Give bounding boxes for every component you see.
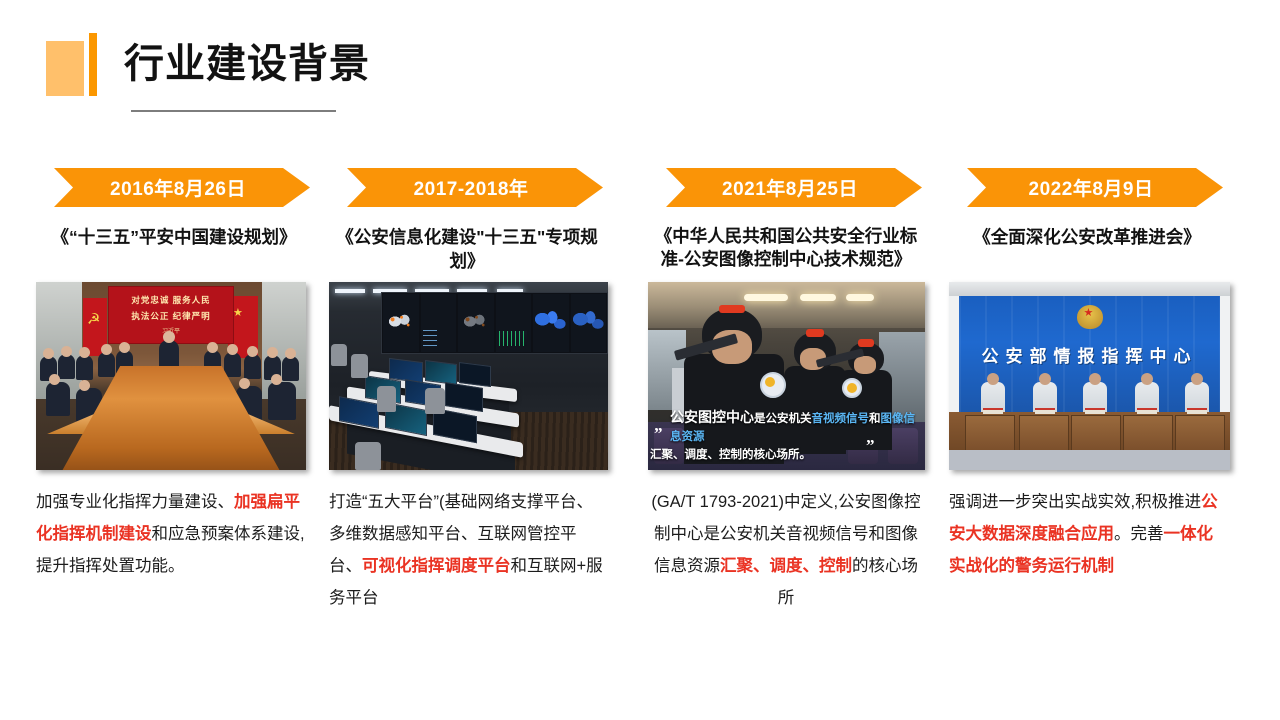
date-banner-3: 2021年8月25日 xyxy=(648,168,922,207)
header-accent-block-orange xyxy=(89,33,97,96)
train-ceiling xyxy=(648,282,925,328)
video-wall-screen xyxy=(496,294,532,352)
body-span-4a: 强调进一步突出实战实效,积极推进 xyxy=(949,493,1201,511)
date-banner-4: 2022年8月9日 xyxy=(949,168,1223,207)
body-text-2: 打造“五大平台”(基础网络支撑平台、多维数据感知平台、互联网管控平台、可视化指挥… xyxy=(329,486,605,614)
slide-root: 行业建设背景 2016年8月26日 《“十三五”平安中国建设规划》 对党忠诚 服… xyxy=(0,0,1280,720)
photo-press-conference: 公安部情报指挥中心 xyxy=(949,282,1230,470)
press-room-ceiling xyxy=(949,282,1230,296)
name-card xyxy=(1035,408,1055,414)
timeline-column-1: 2016年8月26日 《“十三五”平安中国建设规划》 对党忠诚 服务人民 执法公… xyxy=(36,168,312,249)
body-text-3: (GA/T 1793-2021)中定义,公安图像控制中心是公安机关音视频信号和图… xyxy=(648,486,924,614)
console-monitor xyxy=(425,360,457,385)
police-badge xyxy=(760,372,786,398)
photo-control-center xyxy=(329,282,608,470)
chair xyxy=(355,442,381,470)
caption-part-1: 公安图控中心 xyxy=(670,409,754,425)
officer-face xyxy=(854,356,876,374)
date-banner-2: 2017-2018年 xyxy=(329,168,603,207)
date-banner-label-1: 2016年8月26日 xyxy=(100,174,246,201)
chair xyxy=(331,344,347,366)
press-room-floor xyxy=(949,450,1230,470)
video-wall-screen xyxy=(458,294,494,352)
body-span-2b: 可视化指挥调度平台 xyxy=(362,557,511,575)
chair xyxy=(425,388,445,414)
slide-header: 行业建设背景 xyxy=(0,0,1280,130)
chair xyxy=(351,354,368,378)
caption-part-2: 是公安机关 xyxy=(754,413,812,425)
caption-part-6: 汇聚、调度、控制的核心场所。 xyxy=(650,449,811,461)
video-wall-screen xyxy=(421,294,457,352)
timeline-column-4: 2022年8月9日 《全面深化公安改革推进会》 公安部情报指挥中心 xyxy=(949,168,1225,249)
name-card xyxy=(1187,408,1207,414)
body-span-4c: 。完善 xyxy=(1114,525,1164,543)
date-banner-label-4: 2022年8月9日 xyxy=(1019,174,1154,201)
date-banner-label-3: 2021年8月25日 xyxy=(712,174,858,201)
page-title: 行业建设背景 xyxy=(124,36,370,92)
caption-part-4: 和 xyxy=(869,413,881,425)
photo-conference-room-art: 对党忠诚 服务人民 执法公正 纪律严明 习近平 xyxy=(36,282,306,470)
body-text-4: 强调进一步突出实战实效,积极推进公安大数据深度融合应用。完善一体化实战化的警务运… xyxy=(949,486,1225,582)
date-banner-label-2: 2017-2018年 xyxy=(404,174,529,201)
police-badge xyxy=(842,378,862,398)
timeline-column-3: 2021年8月25日 《中华人民共和国公共安全行业标准-公安图像控制中心技术规范… xyxy=(648,168,924,271)
video-wall-screen xyxy=(571,294,607,352)
console-monitor xyxy=(459,362,491,387)
name-card xyxy=(1085,408,1105,414)
video-wall-screen xyxy=(533,294,569,352)
header-accent-block-light xyxy=(46,41,84,96)
video-wall-screen xyxy=(383,294,419,352)
photo-control-center-art xyxy=(329,282,608,470)
photo-caption: 公安图控中心是公安机关音视频信号和图像信息资源 汇聚、调度、控制的核心场所。 xyxy=(648,408,925,464)
slogan-line-2: 执法公正 纪律严明 xyxy=(109,310,233,322)
name-card xyxy=(1137,408,1157,414)
document-title-2: 《公安信息化建设"十三五"专项规划》 xyxy=(329,225,605,273)
name-card xyxy=(983,408,1003,414)
document-title-4: 《全面深化公安改革推进会》 xyxy=(949,225,1225,249)
photo-conference-room: 对党忠诚 服务人民 执法公正 纪律严明 习近平 xyxy=(36,282,306,470)
date-banner-1: 2016年8月26日 xyxy=(36,168,310,207)
body-text-1: 加强专业化指挥力量建设、加强扁平化指挥机制建设和应急预案体系建设,提升指挥处置功… xyxy=(36,486,312,582)
slogan-line-1: 对党忠诚 服务人民 xyxy=(109,294,233,306)
body-span-3b: 汇聚、调度、控制 xyxy=(720,557,852,575)
header-underline xyxy=(131,110,336,112)
document-title-3: 《中华人民共和国公共安全行业标准-公安图像控制中心技术规范》 xyxy=(648,225,924,271)
chair xyxy=(377,386,396,412)
photo-press-conference-art: 公安部情报指挥中心 xyxy=(949,282,1230,470)
photo-swat-team: ” ” 公安图控中心是公安机关音视频信号和图像信息资源 汇聚、调度、控制的核心场… xyxy=(648,282,925,470)
caption-part-3: 音视频信号 xyxy=(812,413,870,425)
police-emblem-icon xyxy=(1077,305,1103,329)
timeline-column-2: 2017-2018年 《公安信息化建设"十三五"专项规划》 xyxy=(329,168,605,273)
backdrop-text: 公安部情报指挥中心 xyxy=(959,342,1220,367)
body-span-1a: 加强专业化指挥力量建设、 xyxy=(36,493,234,511)
video-wall xyxy=(381,292,608,354)
document-title-1: 《“十三五”平安中国建设规划》 xyxy=(36,225,312,249)
photo-swat-team-art: ” ” 公安图控中心是公安机关音视频信号和图像信息资源 汇聚、调度、控制的核心场… xyxy=(648,282,925,470)
